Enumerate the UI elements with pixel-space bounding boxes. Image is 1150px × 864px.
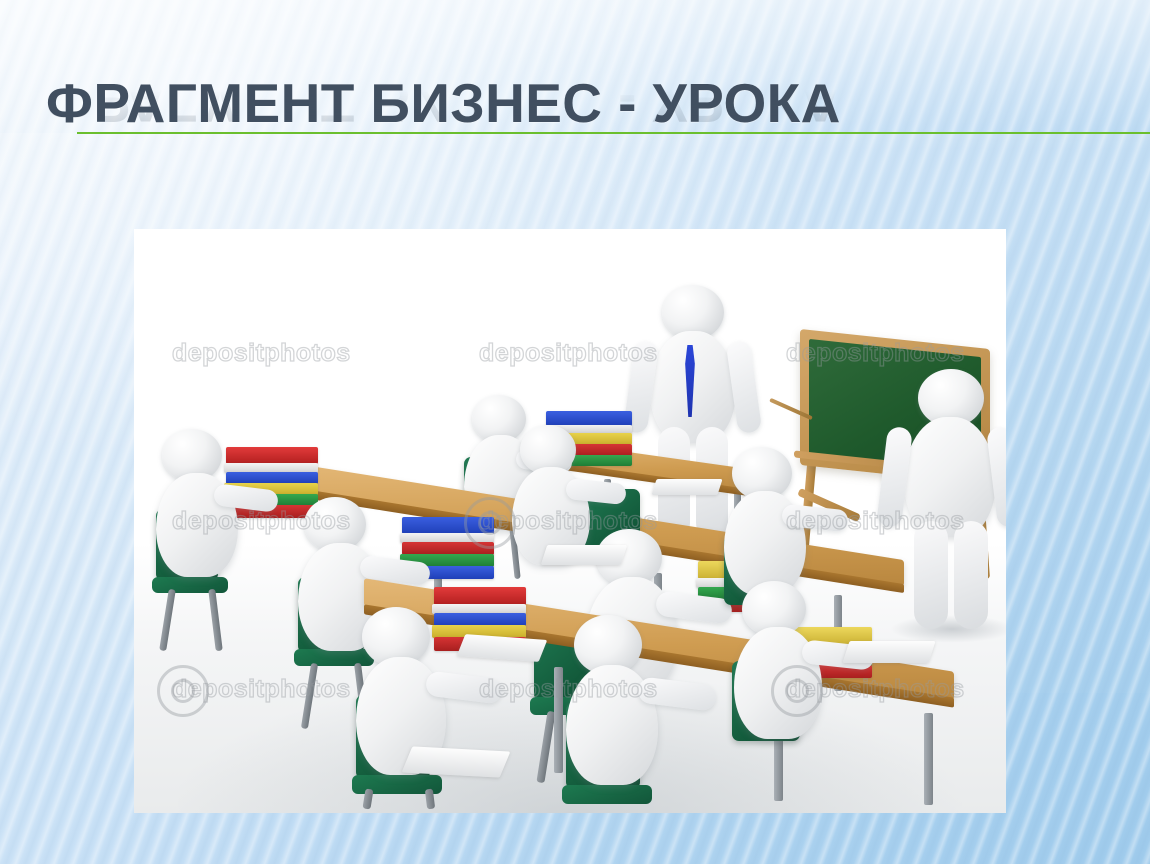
desk-leg — [924, 713, 933, 805]
book-blue — [402, 517, 494, 534]
title-underline-rule — [77, 132, 1150, 134]
slide-title-block: ФРАГМЕНТ БИЗНЕС - УРОКА ФРАГМЕНТ БИЗНЕС … — [46, 72, 1136, 212]
classroom-image: depositphotos depositphotos depositphoto… — [134, 229, 1006, 813]
chair-seat — [152, 577, 228, 593]
assistant-leg-left — [914, 521, 948, 629]
assistant-torso — [904, 417, 996, 537]
open-book — [402, 746, 511, 777]
book-red — [434, 587, 526, 605]
watermark-text: depositphotos — [172, 339, 351, 368]
teacher-arm-right — [726, 340, 763, 434]
book-red — [226, 447, 318, 464]
open-book — [842, 641, 935, 663]
chair-seat — [294, 649, 374, 666]
watermark-text: depositphotos — [479, 339, 658, 368]
book-blue — [546, 411, 632, 426]
assistant-leg-right — [954, 521, 988, 629]
open-book — [541, 545, 627, 565]
page-title-reflection: ФРАГМЕНТ БИЗНЕС - УРОКА — [46, 72, 1136, 134]
open-book — [651, 479, 722, 495]
assistant-shadow — [890, 615, 1006, 643]
chair-seat — [562, 785, 652, 804]
desk-leg — [554, 667, 563, 773]
presentation-slide: ФРАГМЕНТ БИЗНЕС - УРОКА ФРАГМЕНТ БИЗНЕС … — [0, 0, 1150, 864]
